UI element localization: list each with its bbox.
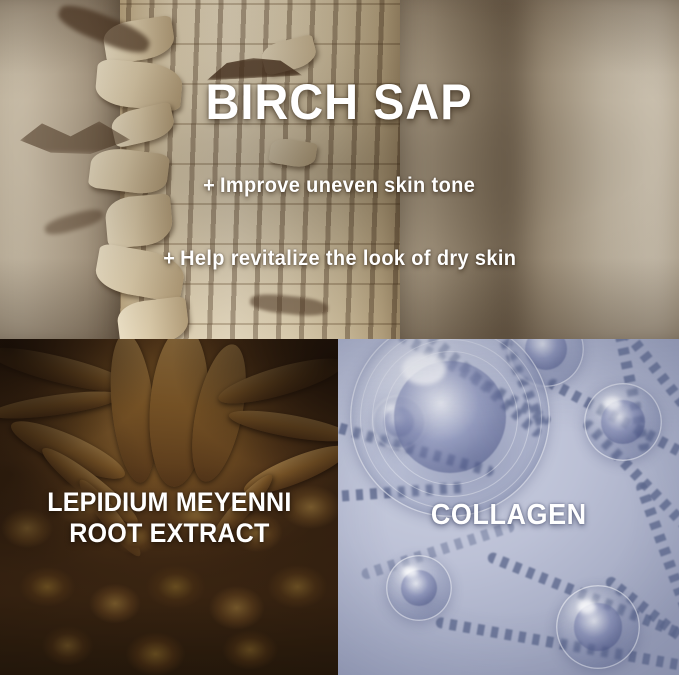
birch-benefit-text: Help revitalize the look of dry skin (180, 247, 516, 270)
birch-benefit-line: +Improve uneven skin tone (203, 170, 475, 201)
maca-text-block: LEPIDIUM MEYENNI ROOT EXTRACT (0, 339, 338, 675)
maca-title-line-2: ROOT EXTRACT (69, 518, 269, 548)
ingredient-benefits-poster: BIRCH SAP +Improve uneven skin tone +Hel… (0, 0, 679, 679)
plus-icon: + (203, 170, 215, 201)
birch-text-block: BIRCH SAP +Improve uneven skin tone +Hel… (0, 0, 679, 339)
bottom-white-edge (0, 675, 679, 679)
collagen-panel: COLLAGEN (338, 339, 679, 675)
birch-benefit-line: +Help revitalize the look of dry skin (163, 243, 516, 274)
maca-title: LEPIDIUM MEYENNI ROOT EXTRACT (47, 487, 291, 547)
collagen-title: COLLAGEN (431, 499, 587, 531)
birch-benefit-text: Improve uneven skin tone (220, 174, 475, 197)
plus-icon: + (163, 243, 175, 274)
collagen-text-block: COLLAGEN (338, 339, 679, 675)
birch-sap-title: BIRCH SAP (206, 77, 473, 127)
maca-title-line-1: LEPIDIUM MEYENNI (47, 487, 291, 517)
lepidium-meyenni-panel: LEPIDIUM MEYENNI ROOT EXTRACT (0, 339, 338, 675)
birch-sap-panel: BIRCH SAP +Improve uneven skin tone +Hel… (0, 0, 679, 339)
